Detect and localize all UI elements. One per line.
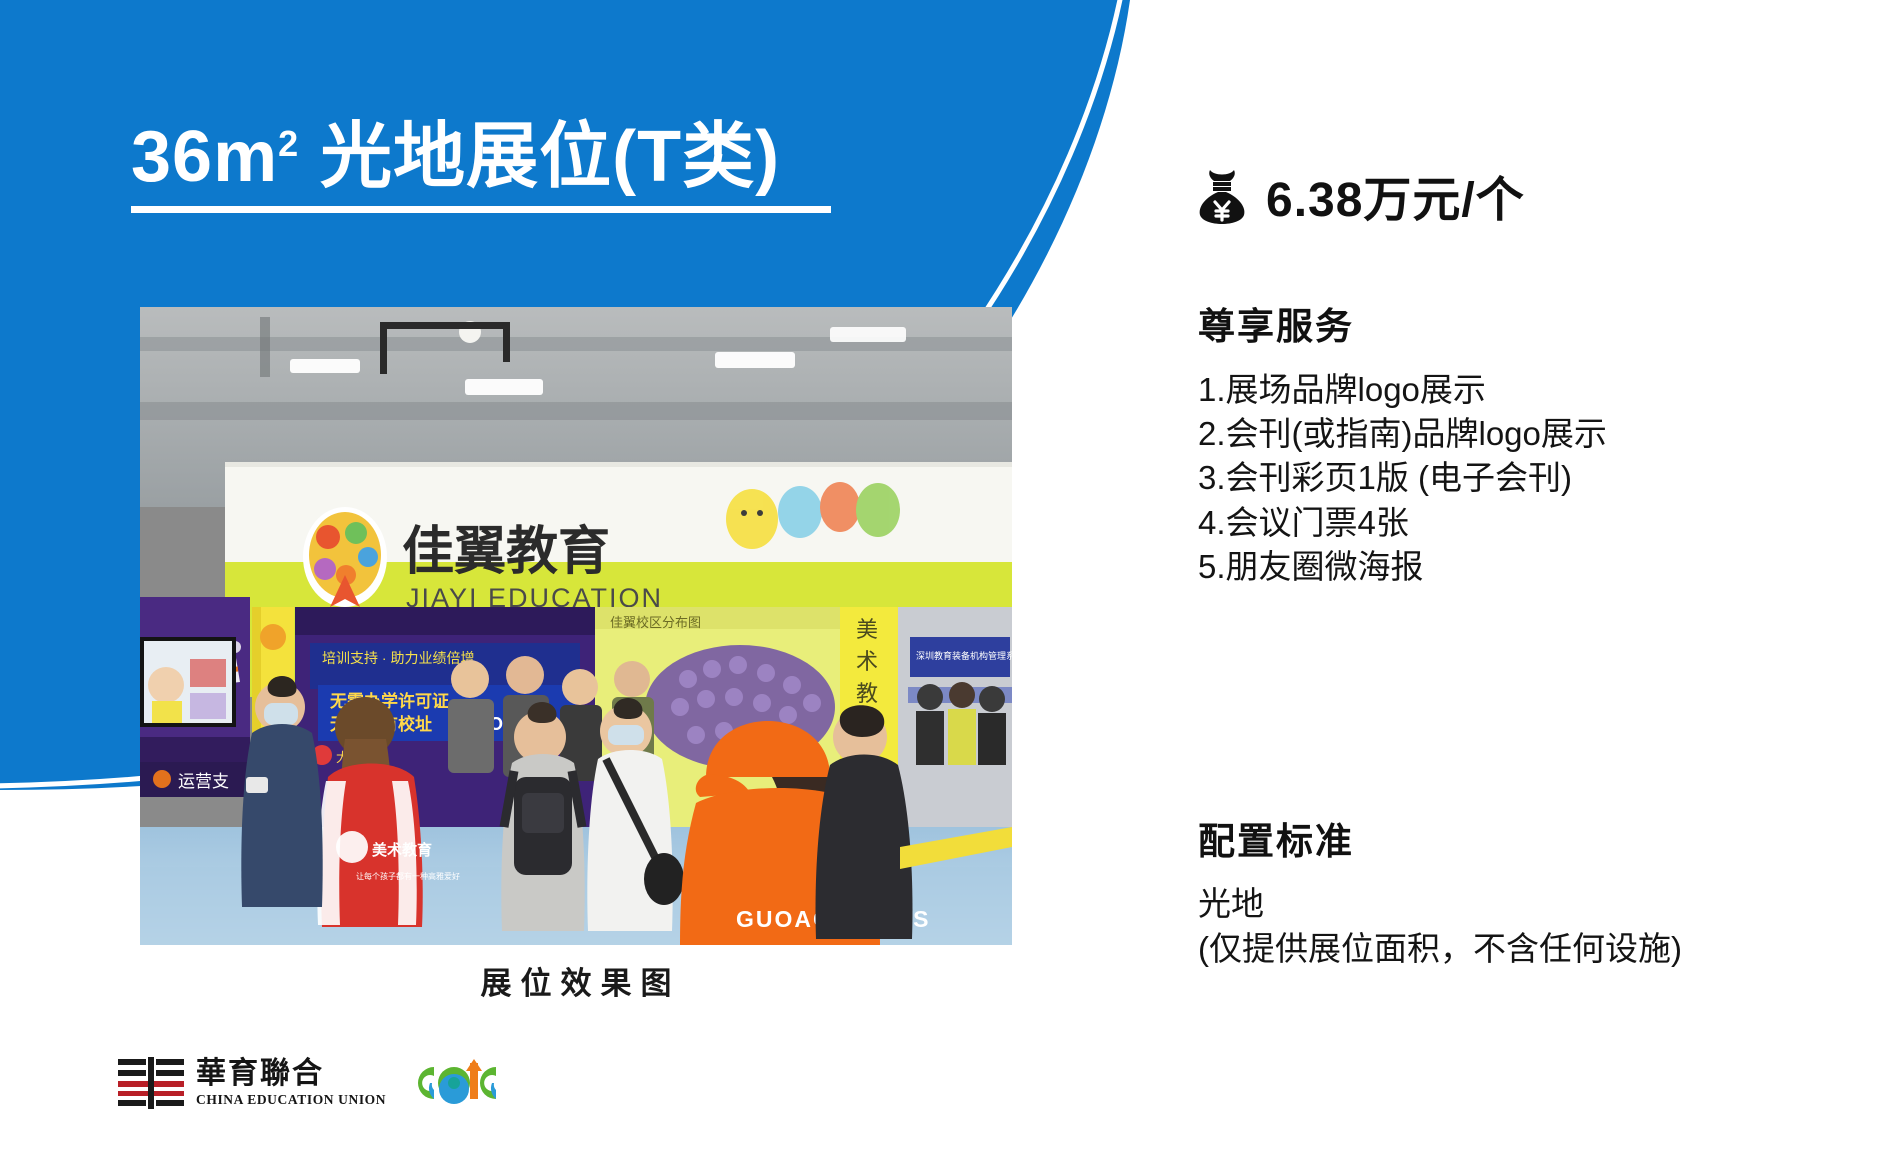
title-underline <box>131 206 831 213</box>
logo-wordmark: 華育聯合 CHINA EDUCATION UNION <box>196 1058 386 1109</box>
configuration-line-2: (仅提供展位面积，不含任何设施) <box>1198 927 1848 972</box>
svg-text:让每个孩子都有一种高雅爱好: 让每个孩子都有一种高雅爱好 <box>356 871 460 881</box>
svg-text:佳翼校区分布图: 佳翼校区分布图 <box>610 615 701 630</box>
services-list: 1.展场品牌logo展示 2.会刊(或指南)品牌logo展示 3.会刊彩页1版 … <box>1198 368 1838 589</box>
footer-logos: 華育聯合 CHINA EDUCATION UNION <box>118 1057 508 1109</box>
title-unit: m <box>213 117 278 197</box>
svg-text:术: 术 <box>856 649 878 674</box>
services-heading: 尊享服务 <box>1198 296 1354 350</box>
cetc-logo-icon <box>408 1057 508 1109</box>
details-column: 6.38万元/个 尊享服务 1.展场品牌logo展示 2.会刊(或指南)品牌lo… <box>1196 0 1856 1169</box>
page-title-block: 36m2 光地展位(T类) <box>131 120 851 213</box>
service-item: 1.展场品牌logo展示 <box>1198 368 1838 412</box>
photo-caption: 展位效果图 <box>140 958 1012 1003</box>
svg-text:教: 教 <box>856 681 878 706</box>
money-bag-icon <box>1196 166 1248 224</box>
svg-text:深圳教育装备机构管理系统: 深圳教育装备机构管理系统 <box>916 650 1012 661</box>
china-education-union-logo: 華育聯合 CHINA EDUCATION UNION <box>118 1057 386 1109</box>
slide-root: 36m2 光地展位(T类) <box>0 0 1899 1169</box>
booth-photo-graphic: 佳翼教育 JIAYI EDUCATION 运营支 佳翼少儿美 <box>140 307 1012 945</box>
svg-text:运营支: 运营支 <box>178 772 229 791</box>
service-item: 5.朋友圈微海报 <box>1198 545 1838 589</box>
price-row: 6.38万元/个 <box>1196 160 1525 230</box>
svg-text:佳翼教育: 佳翼教育 <box>402 523 610 581</box>
svg-text:美术教育: 美术教育 <box>372 841 432 859</box>
page-title: 36m2 光地展位(T类) <box>131 120 851 196</box>
svg-text:美: 美 <box>856 617 878 642</box>
logo-english-name: CHINA EDUCATION UNION <box>196 1092 386 1108</box>
bar-stripes-mark-icon <box>118 1057 184 1109</box>
service-item: 3.会刊彩页1版 (电子会刊) <box>1198 456 1838 500</box>
title-superscript: 2 <box>278 123 299 164</box>
configuration-heading: 配置标准 <box>1198 811 1354 865</box>
service-item: 4.会议门票4张 <box>1198 501 1838 545</box>
booth-photo: 佳翼教育 JIAYI EDUCATION 运营支 佳翼少儿美 <box>140 307 1012 945</box>
logo-chinese-name: 華育聯合 <box>196 1058 386 1090</box>
title-rest: 光地展位(T类) <box>299 117 780 197</box>
price-value: 6.38万元/个 <box>1266 160 1525 230</box>
svg-text:培训支持 · 助力业绩倍增: 培训支持 · 助力业绩倍增 <box>322 650 474 666</box>
configuration-line-1: 光地 <box>1198 882 1848 927</box>
service-item: 2.会刊(或指南)品牌logo展示 <box>1198 412 1838 456</box>
configuration-body: 光地 (仅提供展位面积，不含任何设施) <box>1198 882 1848 971</box>
title-area-number: 36 <box>131 117 213 197</box>
